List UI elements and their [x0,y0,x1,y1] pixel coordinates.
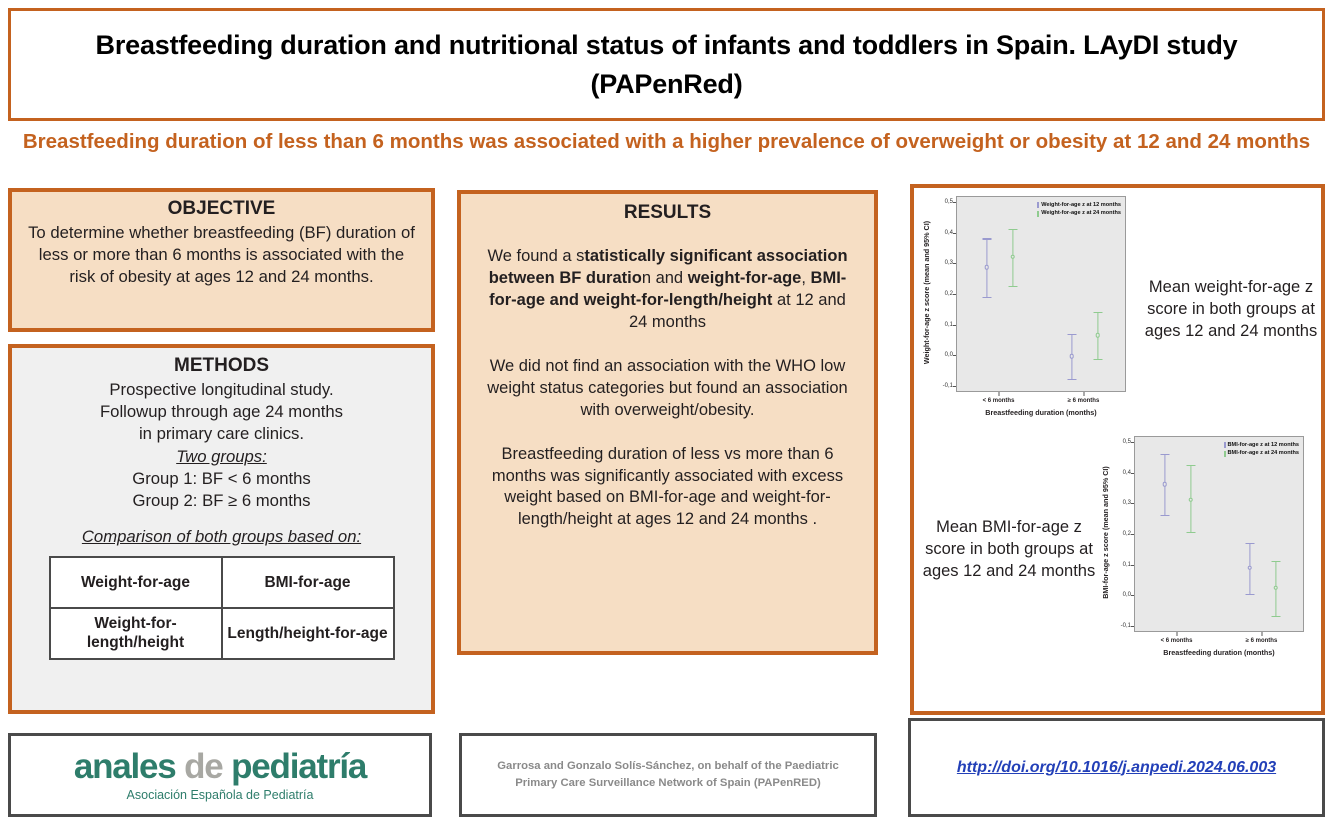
mean-marker [1095,333,1100,338]
error-bar-cap-top [1160,454,1169,455]
legend-swatch-icon [1037,211,1039,217]
results-p1-part2: n and [642,269,688,287]
mean-marker [1162,482,1167,487]
bmi-for-age-chart: BMI-for-age z score (mean and 95% CI)0,5… [1098,434,1320,666]
mean-marker [1010,254,1015,259]
error-bar-cap-top [1008,229,1017,230]
results-p1-part1: We found a s [487,247,584,265]
x-axis-tick-label: ≥ 6 months [1246,638,1278,644]
legend-entry: Weight-for-age z at 12 months [1037,201,1121,209]
legend-swatch-icon [1224,451,1226,457]
table-cell-weight-for-age: Weight-for-age [50,557,222,608]
weight-for-age-chart: Weight-for-age z score (mean and 95% CI)… [920,194,1142,426]
x-axis-ticks: < 6 months≥ 6 months [1134,632,1304,648]
chart-caption-weight-for-age: Mean weight-for-age z score in both grou… [1142,277,1320,343]
results-paragraph-2: We did not find an association with the … [483,356,852,422]
objective-box: OBJECTIVE To determine whether breastfee… [8,188,435,332]
mean-marker [1069,354,1074,359]
results-box: RESULTS We found a statistically signifi… [457,190,878,655]
authors-text: Garrosa and Gonzalo Solís-Sánchez, on be… [478,758,858,793]
table-row: Weight-for-length/height Length/height-f… [50,608,394,659]
plot-wrapper: 0,50,40,30,20,10,0-0,1Weight-for-age z a… [934,196,1142,426]
methods-line-3: in primary care clinics. [28,423,415,445]
x-axis-tick-mark [1261,632,1262,636]
methods-heading: METHODS [28,355,415,377]
logo-word-pediatria: pediatría [231,747,366,786]
page-title: Breastfeeding duration and nutritional s… [11,26,1322,103]
y-axis-tick-label: -0,1 [1121,623,1131,629]
results-paragraph-1: We found a statistically significant ass… [483,246,852,334]
legend-swatch-icon [1037,202,1039,208]
error-bar-cap-top [1067,334,1076,335]
y-axis-tick-label: 0,0 [945,352,953,358]
table-cell-weight-for-length: Weight-for-length/height [50,608,222,659]
results-p1-part3: , [801,269,810,287]
x-axis-ticks: < 6 months≥ 6 months [956,392,1126,408]
methods-box: METHODS Prospective longitudinal study. … [8,344,435,714]
y-axis-tick-label: 0,5 [1123,439,1131,445]
error-bar-cap-top [982,238,991,239]
y-axis-tick-label: 0,4 [1123,470,1131,476]
objective-body: To determine whether breastfeeding (BF) … [26,222,417,289]
y-axis-tick-label: 0,5 [945,199,953,205]
methods-comparison-label: Comparison of both groups based on: [28,526,415,548]
error-bar-cap-bottom [1160,515,1169,516]
methods-line-2: Followup through age 24 months [28,401,415,423]
y-axis-tick-label: -0,1 [943,383,953,389]
journal-logo-box: anales de pediatría Asociación Española … [8,733,432,817]
methods-groups-label: Two groups: [28,446,415,468]
methods-measures-table: Weight-for-age BMI-for-age Weight-for-le… [49,556,395,660]
results-heading: RESULTS [483,202,852,224]
y-axis-tick-label: 0,3 [1123,500,1131,506]
methods-group-2: Group 2: BF ≥ 6 months [28,490,415,512]
table-cell-length-for-age: Length/height-for-age [222,608,394,659]
journal-logo: anales de pediatría [74,749,366,784]
y-axis-ticks: 0,50,40,30,20,10,0-0,1 [934,196,956,392]
legend-entry: Weight-for-age z at 24 months [1037,209,1121,217]
error-bar-cap-bottom [1008,286,1017,287]
error-bar-cap-bottom [1067,379,1076,380]
table-row: Weight-for-age BMI-for-age [50,557,394,608]
mean-marker [1188,497,1193,502]
x-axis-tick-mark [1176,632,1177,636]
error-bar-cap-bottom [1093,359,1102,360]
x-axis-title: Breastfeeding duration (months) [956,408,1126,417]
subtitle: Breastfeeding duration of less than 6 mo… [8,128,1325,155]
error-bar-cap-bottom [1271,616,1280,617]
authors-box: Garrosa and Gonzalo Solís-Sánchez, on be… [459,733,877,817]
objective-heading: OBJECTIVE [26,198,417,220]
table-cell-bmi-for-age: BMI-for-age [222,557,394,608]
legend-label: Weight-for-age z at 12 months [1041,201,1121,209]
error-bar-cap-bottom [1245,594,1254,595]
chart-legend: Weight-for-age z at 12 monthsWeight-for-… [1037,201,1121,218]
logo-word-anales: anales [74,747,176,786]
logo-word-de: de [184,747,222,786]
error-bar-cap-top [1271,561,1280,562]
x-axis-title: Breastfeeding duration (months) [1134,648,1304,657]
error-bar-cap-bottom [982,297,991,298]
methods-spacer [28,512,415,526]
error-bar-cap-bottom [1186,532,1195,533]
plot-wrapper: 0,50,40,30,20,10,0-0,1BMI-for-age z at 1… [1112,436,1320,666]
legend-swatch-icon [1224,442,1226,448]
title-box: Breastfeeding duration and nutritional s… [8,8,1325,121]
mean-marker [984,265,989,270]
error-bar-cap-top [1186,465,1195,466]
doi-box: http://doi.org/10.1016/j.anpedi.2024.06.… [908,718,1325,817]
legend-label: Weight-for-age z at 24 months [1041,209,1121,217]
y-axis-title: Weight-for-age z score (mean and 95% CI) [920,194,934,390]
error-bar-cap-top [1245,543,1254,544]
y-axis-title: BMI-for-age z score (mean and 95% CI) [1098,434,1112,630]
y-axis-tick-label: 0,2 [945,291,953,297]
x-axis-tick-label: ≥ 6 months [1068,398,1100,404]
legend-entry: BMI-for-age z at 24 months [1224,449,1299,457]
x-axis-tick-mark [998,392,999,396]
charts-panel: Weight-for-age z score (mean and 95% CI)… [910,184,1325,715]
error-bar-cap-top [1093,312,1102,313]
y-axis-tick-label: 0,1 [945,322,953,328]
y-axis-ticks: 0,50,40,30,20,10,0-0,1 [1112,436,1134,632]
journal-logo-subtitle: Asociación Española de Pediatría [127,788,314,802]
chart-row-bmi-for-age: Mean BMI-for-age z score in both groups … [920,434,1320,666]
mean-marker [1247,565,1252,570]
methods-line-1: Prospective longitudinal study. [28,379,415,401]
legend-label: BMI-for-age z at 24 months [1228,449,1299,457]
legend-entry: BMI-for-age z at 12 months [1224,441,1299,449]
chart-row-weight-for-age: Weight-for-age z score (mean and 95% CI)… [920,194,1320,426]
mean-marker [1273,585,1278,590]
chart-legend: BMI-for-age z at 12 monthsBMI-for-age z … [1224,441,1299,458]
chart-caption-bmi-for-age: Mean BMI-for-age z score in both groups … [920,517,1098,583]
x-axis-tick-label: < 6 months [983,398,1015,404]
plot-area: Weight-for-age z at 12 monthsWeight-for-… [956,196,1126,392]
results-p1-bold2: weight-for-age [688,269,802,287]
y-axis-tick-label: 0,3 [945,260,953,266]
poster-root: Breastfeeding duration and nutritional s… [0,0,1333,825]
y-axis-tick-label: 0,4 [945,230,953,236]
y-axis-tick-label: 0,0 [1123,592,1131,598]
methods-group-1: Group 1: BF < 6 months [28,468,415,490]
x-axis-tick-mark [1083,392,1084,396]
y-axis-tick-label: 0,2 [1123,531,1131,537]
doi-link[interactable]: http://doi.org/10.1016/j.anpedi.2024.06.… [957,759,1276,777]
y-axis-tick-label: 0,1 [1123,562,1131,568]
legend-label: BMI-for-age z at 12 months [1228,441,1299,449]
x-axis-tick-label: < 6 months [1161,638,1193,644]
results-paragraph-3: Breastfeeding duration of less vs more t… [483,444,852,532]
plot-area: BMI-for-age z at 12 monthsBMI-for-age z … [1134,436,1304,632]
